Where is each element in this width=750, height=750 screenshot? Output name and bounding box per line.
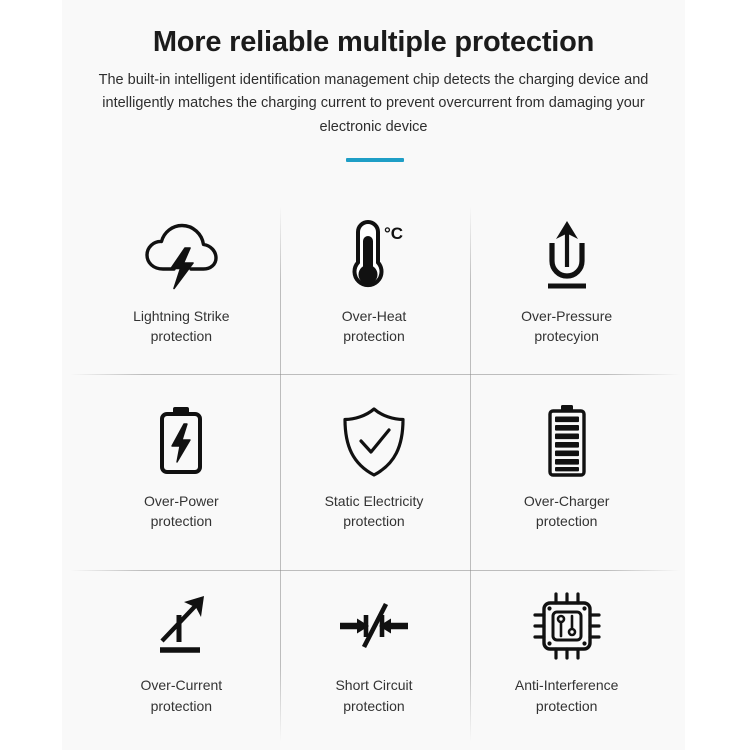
- feature-caption: Static Electricity protection: [325, 491, 424, 532]
- feature-cell-static-electricity: Static Electricity protection: [278, 381, 471, 566]
- feature-caption: Over-Pressure protecyion: [521, 306, 612, 347]
- feature-caption: Lightning Strike protection: [133, 306, 230, 347]
- feature-cell-anti-interference: Anti-Interference protection: [470, 565, 663, 750]
- protection-features-page: More reliable multiple protection The bu…: [0, 0, 750, 750]
- current-arrow-up-icon: [150, 583, 212, 669]
- feature-cell-over-current: Over-Current protection: [85, 565, 278, 750]
- feature-cell-over-heat: °C Over-Heat protection: [278, 196, 471, 381]
- feature-cell-over-pressure: Over-Pressure protecyion: [470, 196, 663, 381]
- protection-feature-grid: Lightning Strike protection °C Over-Heat…: [85, 196, 663, 750]
- feature-caption: Anti-Interference protection: [515, 675, 619, 716]
- page-title: More reliable multiple protection: [62, 0, 685, 60]
- battery-bolt-icon: [153, 399, 209, 485]
- page-subtitle: The built-in intelligent identification …: [74, 60, 674, 139]
- thermometer-icon: °C: [341, 214, 407, 300]
- page-header: More reliable multiple protection The bu…: [62, 0, 685, 139]
- battery-full-bars-icon: [543, 399, 591, 485]
- feature-cell-short-circuit: Short Circuit protection: [278, 565, 471, 750]
- feature-caption: Over-Charger protection: [524, 491, 610, 532]
- thermometer-unit-label: °C: [384, 224, 403, 243]
- short-circuit-icon: [336, 583, 412, 669]
- accent-divider: [346, 158, 404, 162]
- shield-check-icon: [339, 399, 409, 485]
- feature-cell-over-charger: Over-Charger protection: [470, 381, 663, 566]
- feature-caption: Over-Power protection: [144, 491, 219, 532]
- feature-caption: Over-Current protection: [140, 675, 222, 716]
- feature-caption: Short Circuit protection: [335, 675, 412, 716]
- cloud-lightning-icon: [143, 214, 219, 300]
- microchip-icon: [531, 583, 603, 669]
- pressure-arrow-up-icon: [537, 214, 597, 300]
- feature-caption: Over-Heat protection: [342, 306, 407, 347]
- feature-cell-over-power: Over-Power protection: [85, 381, 278, 566]
- feature-cell-lightning-strike: Lightning Strike protection: [85, 196, 278, 381]
